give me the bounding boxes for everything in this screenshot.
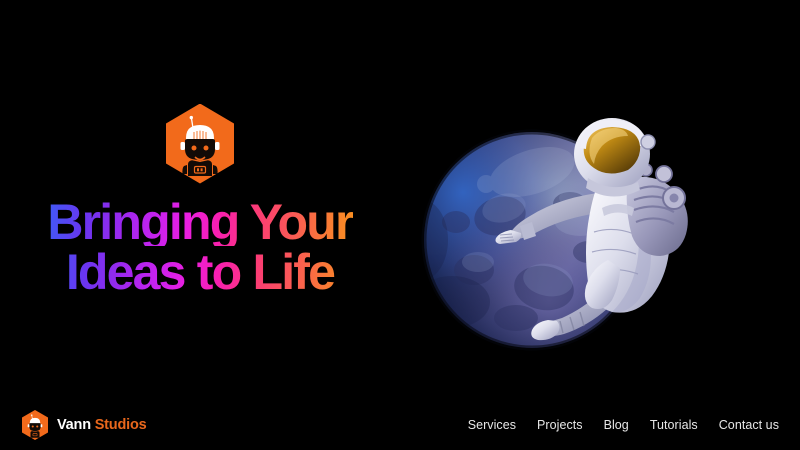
astronaut-hexagon-logo[interactable] (22, 410, 48, 440)
astronaut-mascot-icon (22, 410, 48, 440)
headline-line-2: Ideas to Life (47, 248, 352, 297)
nav-link-tutorials[interactable]: Tutorials (650, 418, 698, 432)
astronaut-hugging-moon-illustration (412, 112, 728, 362)
nav-link-projects[interactable]: Projects (537, 418, 583, 432)
brand[interactable]: Vann Studios (22, 410, 146, 440)
footer: Vann Studios Services Projects Blog Tuto… (0, 400, 800, 450)
footer-nav: Services Projects Blog Tutorials Contact… (468, 418, 779, 432)
astronaut-moon-graphic (412, 112, 728, 362)
nav-link-services[interactable]: Services (468, 418, 516, 432)
headline-line-1: Bringing Your (47, 198, 352, 247)
nav-link-blog[interactable]: Blog (604, 418, 629, 432)
brand-name: Vann Studios (57, 417, 146, 433)
astronaut-hexagon-badge (166, 104, 234, 184)
brand-word-2: Studios (95, 417, 147, 433)
brand-word-1: Vann (57, 417, 91, 433)
nav-link-contact-us[interactable]: Contact us (719, 418, 779, 432)
astronaut-mascot-icon (166, 104, 234, 184)
hero-section: Bringing Your Ideas to Life (0, 0, 400, 400)
page-title: Bringing Your Ideas to Life (47, 198, 352, 297)
